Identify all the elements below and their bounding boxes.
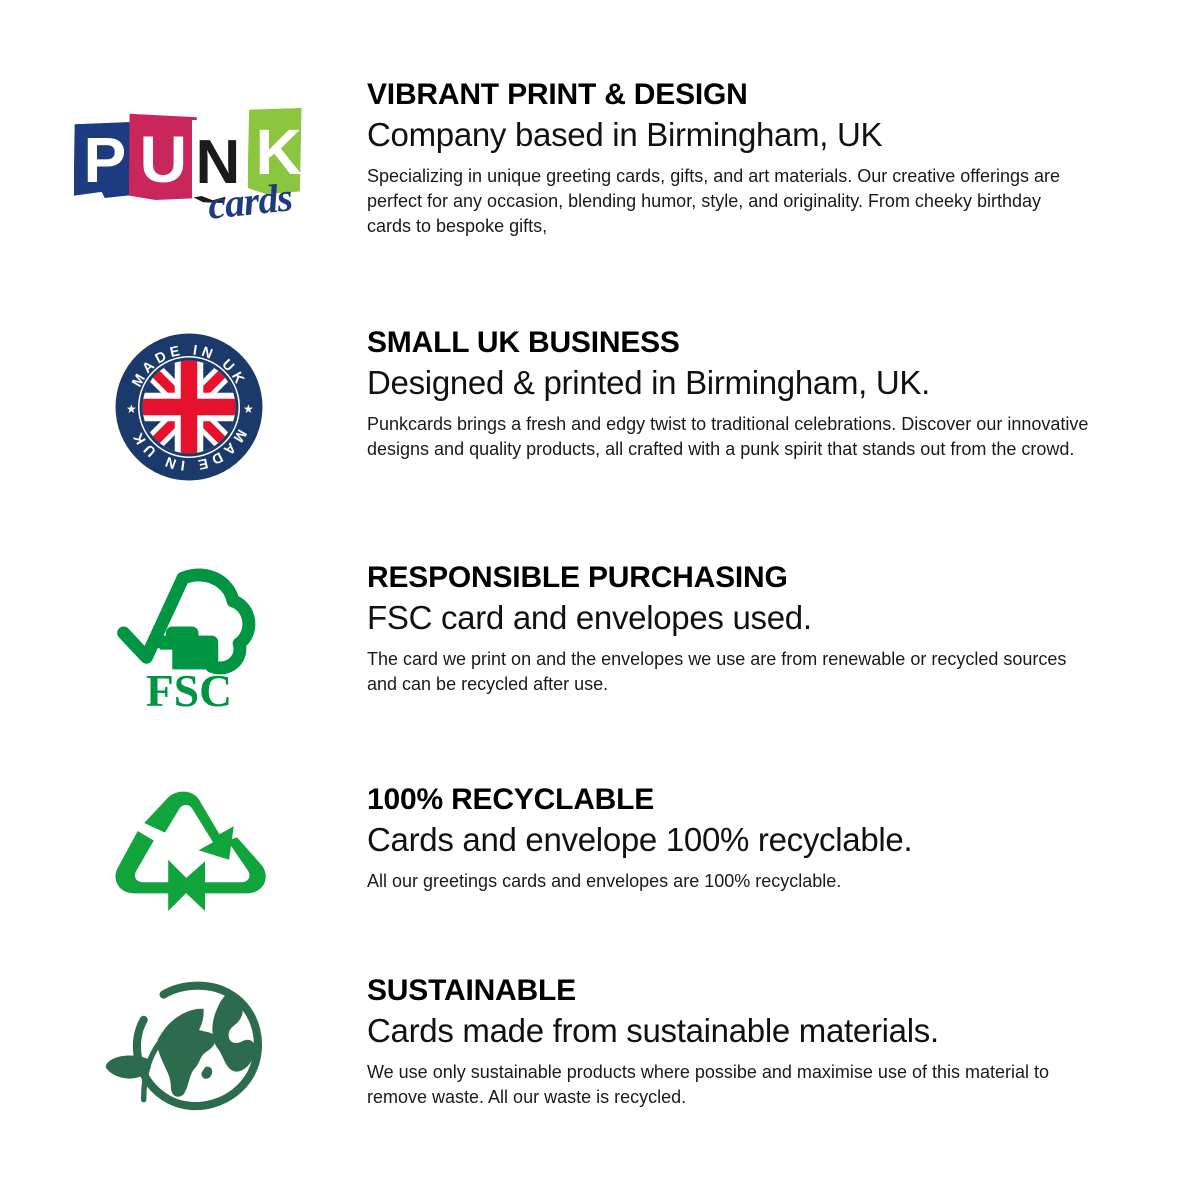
feature-title: 100% RECYCLABLE: [367, 783, 1110, 817]
feature-icon-cell: [0, 974, 367, 1116]
feature-body: Punkcards brings a fresh and edgy twist …: [367, 412, 1089, 462]
feature-title: SMALL UK BUSINESS: [367, 326, 1110, 360]
recycle-arrows-icon: [109, 791, 269, 919]
feature-subtitle: Cards made from sustainable materials.: [367, 1011, 1110, 1051]
globe-sprout-icon: [94, 980, 284, 1116]
feature-text-cell: SUSTAINABLE Cards made from sustainable …: [367, 974, 1200, 1110]
feature-subtitle: Company based in Birmingham, UK: [367, 115, 1110, 155]
feature-icon-cell: P U N K cards: [0, 78, 367, 226]
feature-text-cell: VIBRANT PRINT & DESIGN Company based in …: [367, 78, 1200, 239]
feature-icon-cell: [0, 783, 367, 919]
feature-icon-cell: MADE IN UK MADE IN UK ★ ★: [0, 326, 367, 482]
feature-row: P U N K cards VIBRANT PRINT & DESIGN Com…: [0, 78, 1200, 239]
feature-subtitle: Cards and envelope 100% recyclable.: [367, 820, 1110, 860]
logo-letter-p: P: [84, 128, 127, 192]
fsc-tree-icon: FSC: [113, 563, 265, 715]
feature-body: We use only sustainable products where p…: [367, 1060, 1089, 1110]
feature-title: SUSTAINABLE: [367, 974, 1110, 1008]
feature-icon-cell: FSC: [0, 561, 367, 715]
feature-title: RESPONSIBLE PURCHASING: [367, 561, 1110, 595]
made-in-uk-badge-icon: MADE IN UK MADE IN UK ★ ★: [114, 332, 264, 482]
features-page: P U N K cards VIBRANT PRINT & DESIGN Com…: [0, 0, 1200, 1200]
feature-subtitle: FSC card and envelopes used.: [367, 598, 1110, 638]
punkcards-logo: P U N K cards: [70, 106, 302, 226]
feature-text-cell: RESPONSIBLE PURCHASING FSC card and enve…: [367, 561, 1200, 697]
feature-row: MADE IN UK MADE IN UK ★ ★ SMALL UK BUSIN…: [0, 326, 1200, 482]
feature-title: VIBRANT PRINT & DESIGN: [367, 78, 1110, 112]
feature-subtitle: Designed & printed in Birmingham, UK.: [367, 363, 1110, 403]
badge-star-left-icon: ★: [126, 402, 137, 416]
feature-body: Specializing in unique greeting cards, g…: [367, 164, 1089, 239]
feature-row: 100% RECYCLABLE Cards and envelope 100% …: [0, 783, 1200, 919]
badge-star-right-icon: ★: [243, 402, 254, 416]
feature-text-cell: SMALL UK BUSINESS Designed & printed in …: [367, 326, 1200, 462]
feature-row: SUSTAINABLE Cards made from sustainable …: [0, 974, 1200, 1116]
feature-body: The card we print on and the envelopes w…: [367, 647, 1089, 697]
fsc-wordmark: FSC: [145, 665, 231, 715]
logo-letter-u: U: [140, 126, 188, 192]
feature-body: All our greetings cards and envelopes ar…: [367, 869, 1089, 894]
feature-text-cell: 100% RECYCLABLE Cards and envelope 100% …: [367, 783, 1200, 894]
logo-script-cards: cards: [205, 173, 293, 229]
feature-row: FSC RESPONSIBLE PURCHASING FSC card and …: [0, 561, 1200, 715]
